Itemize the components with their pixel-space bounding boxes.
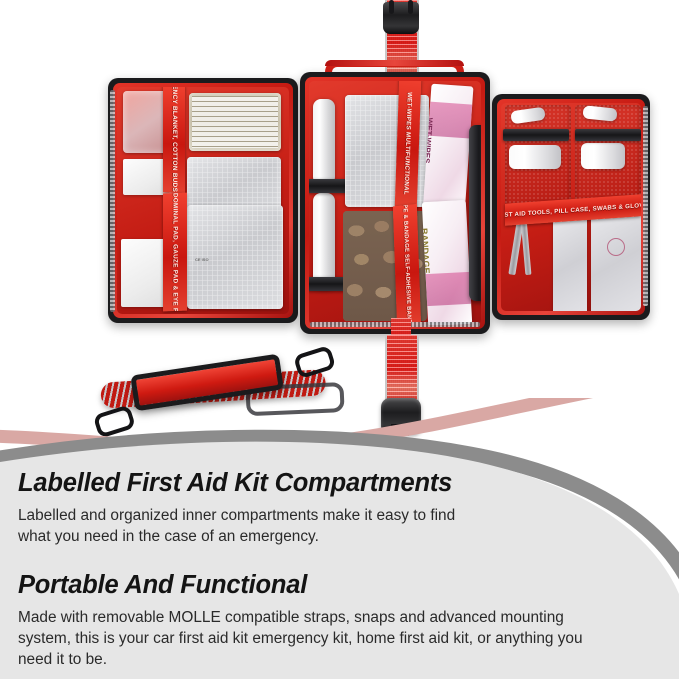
- label-text-abdominal-pad: ABDOMINAL PAD, GAUZE PAD & EYE PAD: [172, 193, 179, 312]
- wet-wipes-pack: WET-WIPES: [423, 84, 474, 217]
- section-body-1: Labelled and organized inner compartment…: [18, 506, 488, 548]
- section-body-2: Made with removable MOLLE compatible str…: [18, 608, 598, 670]
- label-text-first-aid-tools: FIRST AID TOOLS, PILL CASE, SWABS & GLOV…: [505, 201, 641, 219]
- product-feature-image: CE ISO EMERGENCY BLANKET, COTTON BUDS & …: [0, 0, 679, 679]
- marketing-text-panel: Labelled First Aid Kit Compartments Labe…: [0, 440, 679, 679]
- bandage-pack: BANDAGE: [422, 200, 472, 325]
- left-compartment-lining: CE ISO EMERGENCY BLANKET, COTTON BUDS & …: [117, 87, 289, 314]
- gauze-roll-upper: [313, 99, 335, 185]
- shoulder-strap-hook-right: [293, 345, 336, 379]
- gauze-roll-lower: [313, 193, 335, 289]
- label-text-emergency-blanket: EMERGENCY BLANKET, COTTON BUDS & TAPE: [171, 87, 178, 194]
- swab-bundle: [553, 215, 587, 311]
- middle-compartment-lining: WET-WIPES BANDAGE WET-WIPES MULTIFUNCTIO…: [309, 81, 481, 325]
- label-ribbon-wet-wipes: WET-WIPES MULTIFUNCTIONAL: [395, 81, 422, 210]
- section-heading-2: Portable And Functional: [18, 571, 638, 600]
- elastic-retainer-upper: [309, 179, 347, 193]
- label-ribbon-emergency-blanket: EMERGENCY BLANKET, COTTON BUDS & TAPE: [163, 87, 185, 194]
- gauze-pad-pouch-lower: CE ISO: [187, 205, 283, 309]
- right-compartment-panel: FIRST AID TOOLS, PILL CASE, SWABS & GLOV…: [492, 94, 650, 320]
- section-heading-1: Labelled First Aid Kit Compartments: [18, 469, 638, 498]
- gauze-roll-right-a: [509, 145, 561, 169]
- cotton-buds-pouch: [189, 93, 281, 151]
- label-ribbon-tape-bandage: TAPE & BANDAGE SELF-ADHESIVE BANDAGE: [393, 204, 421, 325]
- right-panel-zipper: [643, 106, 648, 306]
- right-compartment-lining: FIRST AID TOOLS, PILL CASE, SWABS & GLOV…: [501, 103, 641, 311]
- tweezers: [521, 219, 532, 275]
- right-retainer-right: [575, 129, 641, 141]
- right-retainer-left: [503, 129, 569, 141]
- label-text-tape-bandage: TAPE & BANDAGE SELF-ADHESIVE BANDAGE: [402, 204, 413, 325]
- middle-compartment-panel: WET-WIPES BANDAGE WET-WIPES MULTIFUNCTIO…: [300, 72, 490, 334]
- left-panel-zipper: [110, 90, 115, 312]
- top-buckle: [383, 2, 419, 34]
- gauze-roll-right-b: [581, 143, 625, 169]
- elastic-retainer-lower: [309, 277, 347, 291]
- pouch-print-left: CE ISO: [195, 257, 209, 262]
- label-text-wet-wipes: WET-WIPES MULTIFUNCTIONAL: [403, 91, 414, 195]
- black-roll-item: [469, 125, 481, 301]
- left-compartment-panel: CE ISO EMERGENCY BLANKET, COTTON BUDS & …: [108, 78, 298, 323]
- gloves-pack: [591, 211, 641, 311]
- label-ribbon-abdominal-pad: ABDOMINAL PAD, GAUZE PAD & EYE PAD: [163, 193, 187, 312]
- product-photo: CE ISO EMERGENCY BLANKET, COTTON BUDS & …: [0, 0, 679, 450]
